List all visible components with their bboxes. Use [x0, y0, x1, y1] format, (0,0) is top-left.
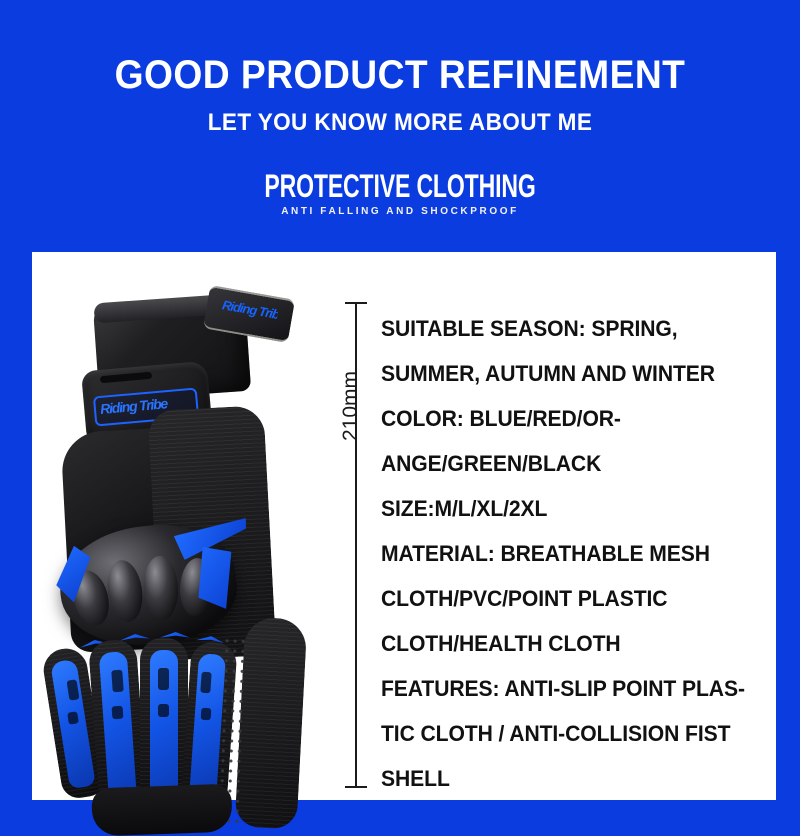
glove-palm-edge: [91, 784, 233, 836]
spec-line: CLOTH/PVC/POINT PLASTIC: [381, 576, 727, 621]
finger-guard-notch-5: [67, 711, 79, 724]
dimension-cap-bottom: [345, 786, 367, 788]
spec-line: COLOR: BLUE/RED/OR-: [381, 396, 727, 441]
category-tagline: ANTI FALLING AND SHOCKPROOF: [0, 205, 800, 219]
finger-guard-notch-7: [158, 704, 169, 717]
finger-guard-notch-6: [112, 706, 124, 720]
dimension-label: 210mm: [339, 356, 363, 456]
finger-guard-notch-8: [201, 708, 212, 721]
spec-line: CLOTH/HEALTH CLOTH: [381, 621, 727, 666]
category-title: PROTECTIVE CLOTHING: [112, 168, 688, 204]
spec-line: SUITABLE SEASON: SPRING,: [381, 306, 727, 351]
spec-line: SIZE:M/L/XL/2XL: [381, 486, 727, 531]
spec-line: MATERIAL: BREATHABLE MESH: [381, 531, 727, 576]
product-infographic: GOOD PRODUCT REFINEMENT LET YOU KNOW MOR…: [0, 0, 800, 800]
spec-line: ANGE/GREEN/BLACK: [381, 441, 727, 486]
finger-guard-notch-2: [111, 670, 124, 693]
finger-guard-notch-4: [200, 672, 211, 694]
page-title: GOOD PRODUCT REFINEMENT: [28, 52, 772, 98]
specification-list: SUITABLE SEASON: SPRING, SUMMER, AUTUMN …: [381, 306, 741, 801]
spec-line: TIC CLOTH / ANTI-COLLISION FIST: [381, 711, 727, 756]
header-band: GOOD PRODUCT REFINEMENT LET YOU KNOW MOR…: [0, 0, 800, 252]
glove-thumb: [235, 617, 308, 830]
spec-line: SUMMER, AUTUMN AND WINTER: [381, 351, 727, 396]
product-image-glove: Riding Tribe Riding Tribe: [44, 288, 324, 796]
spec-line: SHELL: [381, 756, 727, 801]
dimension-marker: 210mm: [345, 302, 367, 788]
finger-guard-notch-3: [158, 668, 169, 690]
spec-line: FEATURES: ANTI-SLIP POINT PLAS-: [381, 666, 727, 711]
page-subtitle: LET YOU KNOW MORE ABOUT ME: [24, 108, 776, 138]
